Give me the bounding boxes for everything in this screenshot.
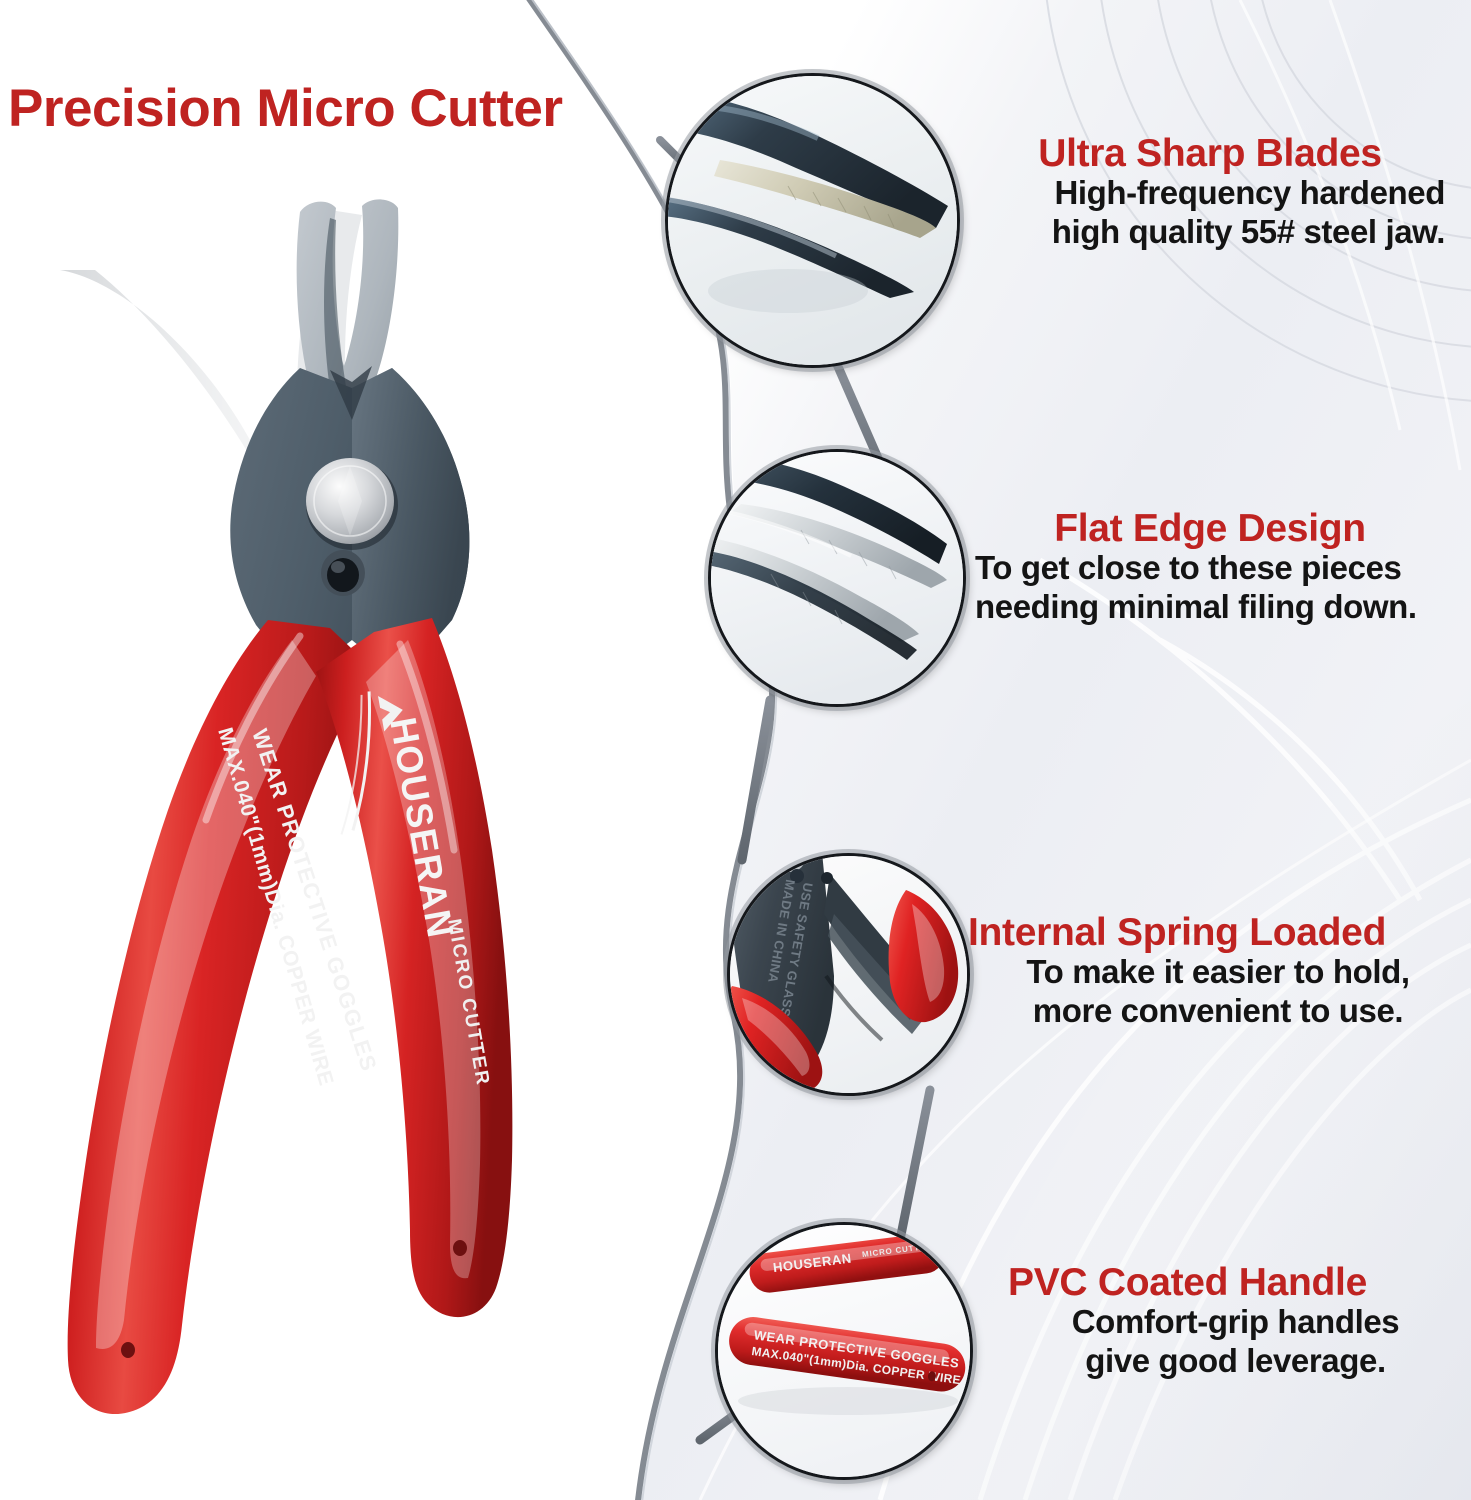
spring-hole bbox=[321, 550, 365, 596]
handle-left: WEAR PROTECTIVE GOGGLES MAX.040"(1mm)Dia… bbox=[68, 620, 382, 1414]
feature-body-ultra-sharp-blades: High-frequency hardened high quality 55#… bbox=[975, 174, 1445, 252]
feature-body-line: To make it easier to hold, bbox=[968, 953, 1468, 992]
callout-photo-ultra-sharp-blades bbox=[665, 73, 960, 368]
feature-body-flat-edge-design: To get close to these pieces needing min… bbox=[975, 549, 1445, 627]
feature-body-line: more convenient to use. bbox=[968, 992, 1468, 1031]
feature-body-line: Comfort-grip handles bbox=[1008, 1303, 1463, 1342]
feature-block-ultra-sharp-blades: Ultra Sharp Blades High-frequency harden… bbox=[975, 133, 1445, 252]
feature-title-pvc-coated-handle: PVC Coated Handle bbox=[1008, 1262, 1463, 1303]
product-illustration-micro-cutter: WEAR PROTECTIVE GOGGLES MAX.040"(1mm)Dia… bbox=[0, 120, 700, 1480]
feature-title-flat-edge-design: Flat Edge Design bbox=[975, 508, 1445, 549]
feature-body-internal-spring-loaded: To make it easier to hold, more convenie… bbox=[968, 953, 1468, 1031]
callout-photo-flat-edge-design bbox=[708, 449, 966, 707]
feature-body-line: give good leverage. bbox=[1008, 1342, 1463, 1381]
feature-body-line: needing minimal filing down. bbox=[975, 588, 1445, 627]
feature-body-pvc-coated-handle: Comfort-grip handles give good leverage. bbox=[1008, 1303, 1463, 1381]
leader-line-3 bbox=[900, 1090, 930, 1240]
feature-block-internal-spring-loaded: Internal Spring Loaded To make it easier… bbox=[968, 912, 1468, 1031]
feature-body-line: To get close to these pieces bbox=[975, 549, 1445, 588]
feature-title-internal-spring-loaded: Internal Spring Loaded bbox=[968, 912, 1468, 953]
feature-title-ultra-sharp-blades: Ultra Sharp Blades bbox=[975, 133, 1445, 174]
callout-photo-internal-spring-loaded: USE SAFETY GLASSES MADE IN CHINA bbox=[727, 853, 970, 1096]
feature-body-line: High-frequency hardened bbox=[975, 174, 1445, 213]
feature-body-line: high quality 55# steel jaw. bbox=[975, 213, 1445, 252]
feature-block-flat-edge-design: Flat Edge Design To get close to these p… bbox=[975, 508, 1445, 627]
callout-photo-pvc-coated-handle: HOUSERAN MICRO CUTTER WEAR PROTECTIVE GO… bbox=[715, 1222, 973, 1480]
feature-block-pvc-coated-handle: PVC Coated Handle Comfort-grip handles g… bbox=[1008, 1262, 1463, 1381]
infographic-canvas: Precision Micro Cutter bbox=[0, 0, 1471, 1500]
